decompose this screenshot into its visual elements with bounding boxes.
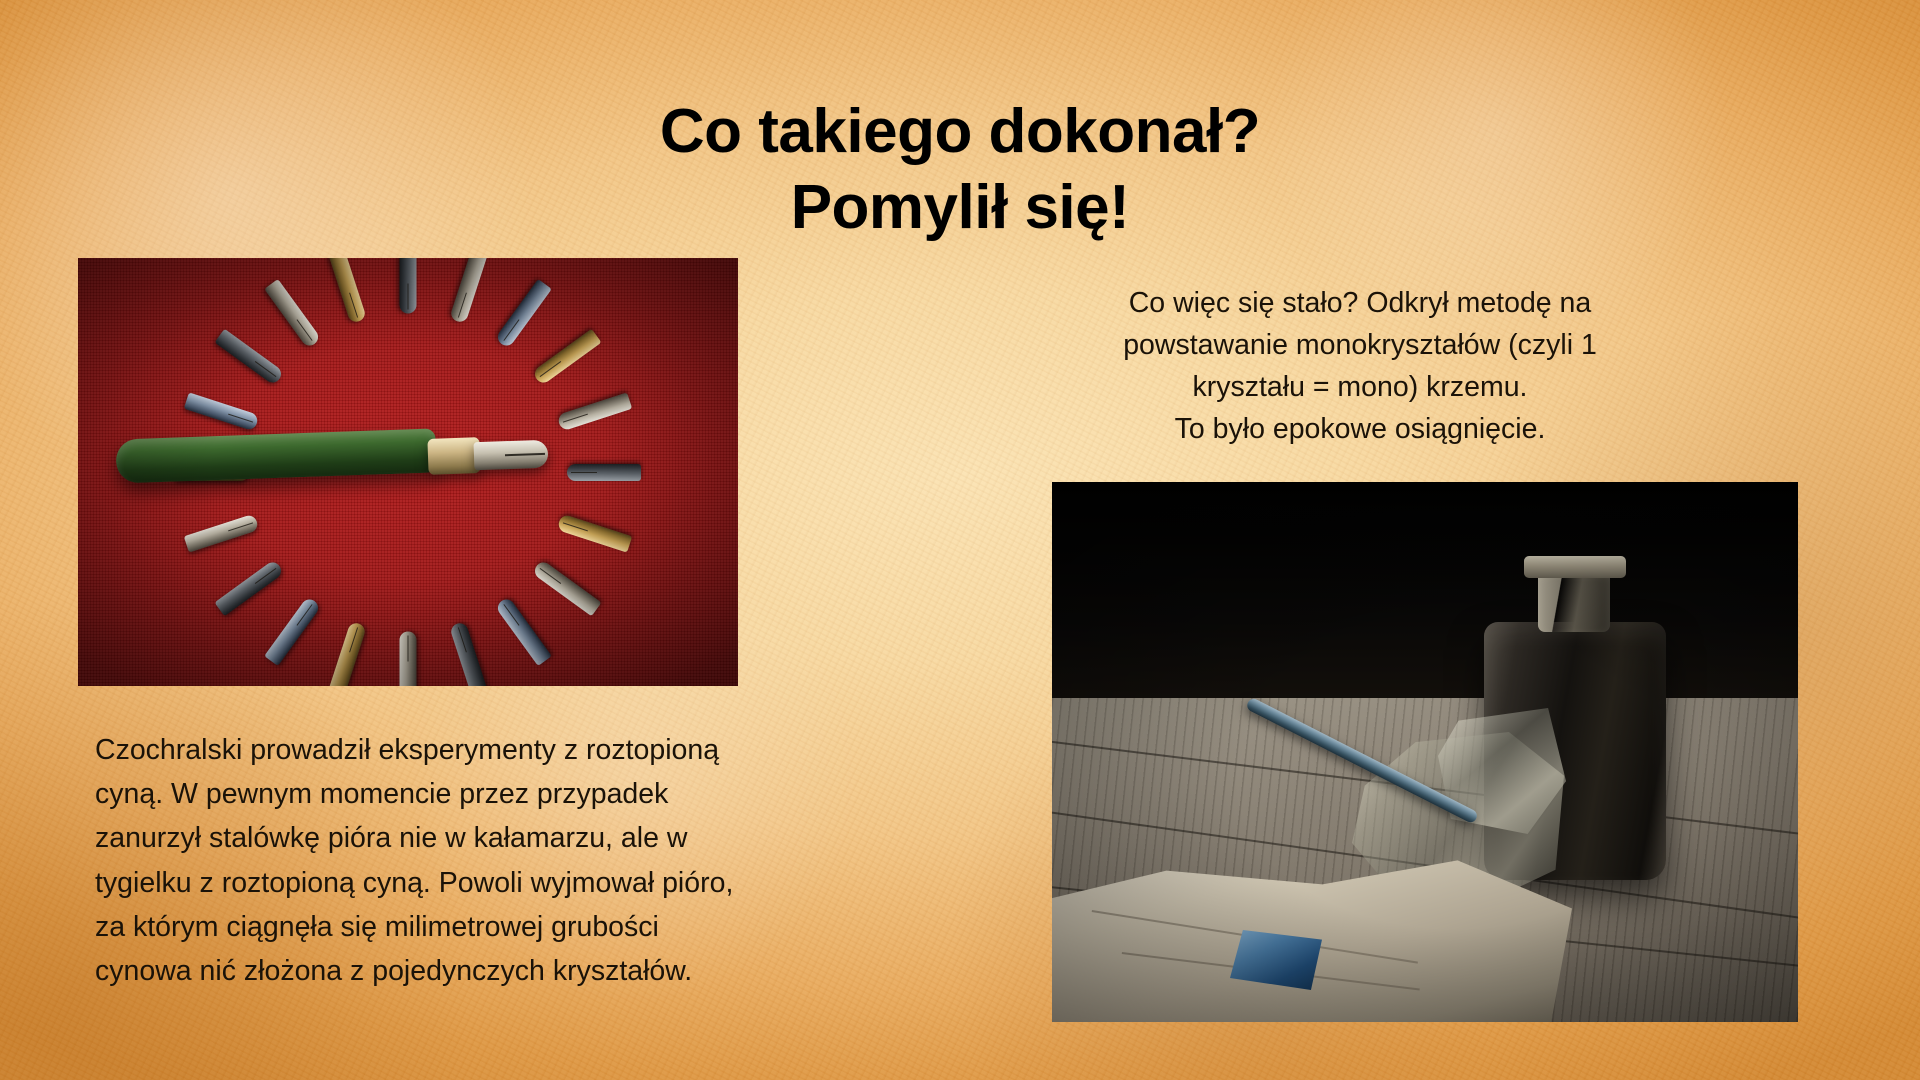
photo-vignette [78,258,738,686]
page-title: Co takiego dokonał? Pomylił się! [0,96,1920,244]
presentation-slide: Co takiego dokonał? Pomylił się! Co więc… [0,0,1920,1080]
photo-vignette [1052,482,1798,1022]
right-line-2: powstawanie monokryształów (czyli 1 [1010,325,1710,367]
title-line-2: Pomylił się! [0,172,1920,244]
left-line-3: zanurzył stalówkę pióra nie w kałamarzu,… [95,816,955,860]
left-line-5: za którym ciągnęła się milimetrowej grub… [95,905,955,949]
right-line-3: kryształu = mono) krzemu. [1010,367,1710,409]
right-line-1: Co więc się stało? Odkrył metodę na [1010,283,1710,325]
calligraphy-nibs-image [78,258,738,686]
left-line-6: cynowa nić złożona z pojedynczych kryszt… [95,949,955,993]
left-line-2: cyną. W pewnym momencie przez przypadek [95,772,955,816]
right-line-4: To było epokowe osiągnięcie. [1010,409,1710,451]
right-paragraph: Co więc się stało? Odkrył metodę na pows… [1010,283,1710,451]
inkwell-workbench-image [1052,482,1798,1022]
left-paragraph: Czochralski prowadził eksperymenty z roz… [95,728,955,993]
left-line-4: tygielku z roztopioną cyną. Powoli wyjmo… [95,861,955,905]
left-line-1: Czochralski prowadził eksperymenty z roz… [95,728,955,772]
title-line-1: Co takiego dokonał? [0,96,1920,168]
